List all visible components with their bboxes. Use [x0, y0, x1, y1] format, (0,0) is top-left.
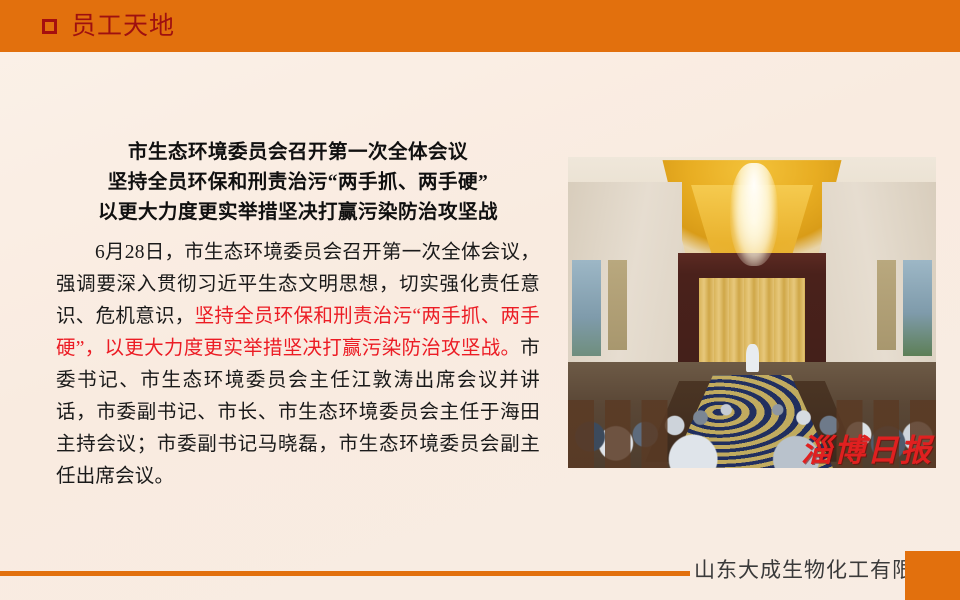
photo-curtain-left: [608, 260, 626, 350]
headline-line-1: 市生态环境委员会召开第一次全体会议: [56, 138, 540, 168]
square-bullet-icon: [42, 19, 57, 34]
photo-content: 淄博日报: [568, 157, 936, 468]
photo-window-left: [572, 260, 601, 356]
article-column: 市生态环境委员会召开第一次全体会议 坚持全员环保和刑责治污“两手抓、两手硬” 以…: [56, 138, 540, 513]
headline-line-2: 坚持全员环保和刑责治污“两手抓、两手硬”: [56, 168, 540, 198]
photo-watermark: 淄博日报: [801, 435, 933, 466]
photo-curtain-right: [877, 260, 895, 350]
footer-accent-block: [905, 551, 960, 600]
photo-window-right: [903, 260, 932, 356]
header-inner: 员工天地: [42, 0, 175, 52]
slide: 员工天地 市生态环境委员会召开第一次全体会议 坚持全员环保和刑责治污“两手抓、两…: [0, 0, 960, 600]
article-photo: 淄博日报: [568, 157, 936, 468]
page-title: 员工天地: [71, 14, 175, 39]
body-part-2: 市委书记、市生态环境委员会主任江敦涛出席会议并讲话，市委副书记、市长、市生态环境…: [56, 338, 540, 487]
article-headline: 市生态环境委员会召开第一次全体会议 坚持全员环保和刑责治污“两手抓、两手硬” 以…: [56, 138, 540, 228]
headline-line-3: 以更大力度更实举措坚决打赢污染防治攻坚战: [56, 198, 540, 228]
photo-chandelier: [730, 163, 778, 266]
footer-rule: [0, 571, 690, 576]
article-body: 6月28日，市生态环境委员会召开第一次全体会议，强调要深入贯彻习近平生态文明思想…: [56, 237, 540, 493]
header-bar: 员工天地: [0, 0, 960, 52]
